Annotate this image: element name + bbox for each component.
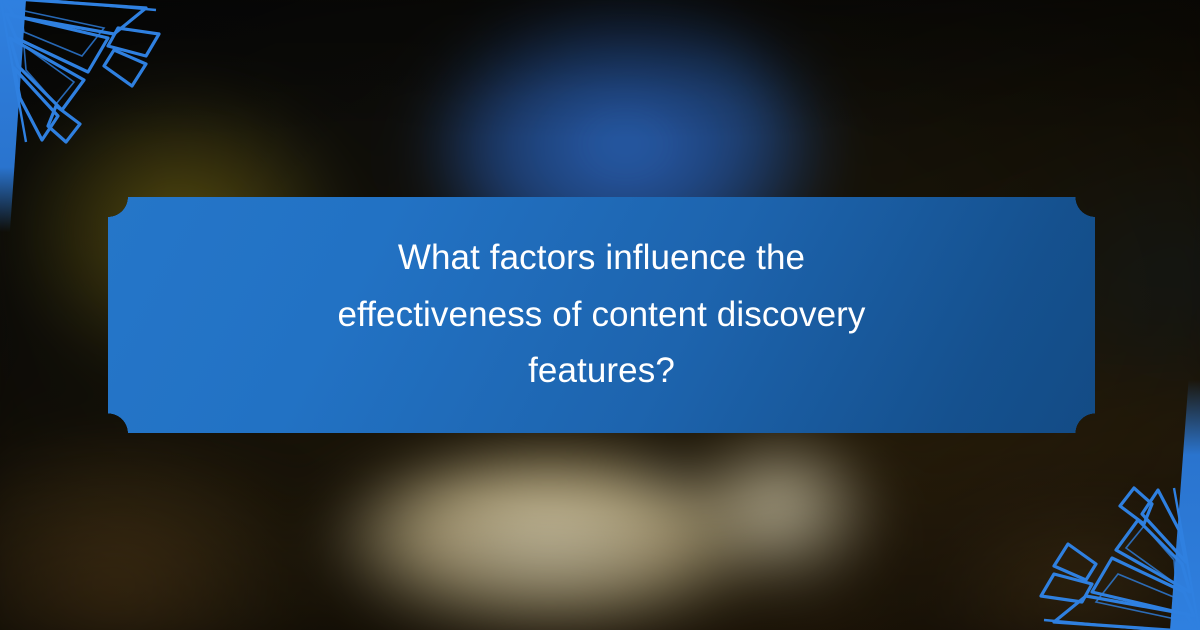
social-card: What factors influence the effectiveness… xyxy=(0,0,1200,630)
question-banner: What factors influence the effectiveness… xyxy=(108,197,1095,433)
question-text: What factors influence the effectiveness… xyxy=(222,197,982,433)
